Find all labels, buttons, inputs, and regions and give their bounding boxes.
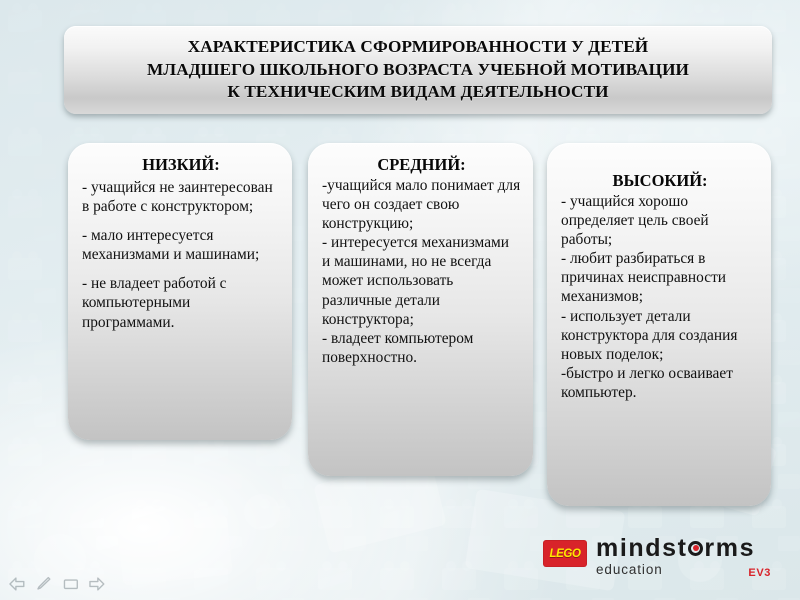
level-card-medium-body: -учащийся мало понимает для чего он созд…	[322, 176, 521, 367]
mindstorms-name-pre: mindst	[596, 534, 688, 562]
level-card-medium: СРЕДНИЙ: -учащийся мало понимает для чег…	[308, 143, 533, 476]
level-card-medium-heading: СРЕДНИЙ:	[322, 155, 521, 175]
target-o-icon: o	[688, 536, 705, 560]
presentation-slide: РОБОТОТЕХНИКА ХАРАКТЕРИСТИКА СФОРМИРОВАН…	[0, 0, 800, 600]
slide-view-icon[interactable]	[62, 576, 80, 592]
back-arrow-icon[interactable]	[8, 576, 26, 592]
level-card-low-item-2: - мало интересуется механизмами и машина…	[82, 226, 280, 264]
page-title-line-2: МЛАДШЕГО ШКОЛЬНОГО ВОЗРАСТА УЧЕБНОЙ МОТИ…	[147, 59, 689, 82]
level-card-medium-item-3: - владеет компьютером поверхностно.	[322, 329, 521, 367]
level-card-low-heading: НИЗКИЙ:	[82, 155, 280, 175]
level-card-low-item-3: - не владеет работой с компьютерными про…	[82, 274, 280, 331]
level-card-low: НИЗКИЙ: - учащийся не заинтересован в ра…	[68, 143, 292, 440]
mindstorms-edition-badge: EV3	[748, 567, 771, 579]
level-card-medium-item-1: -учащийся мало понимает для чего он созд…	[322, 176, 521, 233]
level-card-high-body: - учащийся хорошо определяет цель своей …	[561, 192, 759, 402]
level-card-high-item-1: - учащийся хорошо определяет цель своей …	[561, 192, 759, 249]
forward-arrow-icon[interactable]	[88, 576, 106, 592]
lego-brand-text: LEGO	[550, 548, 581, 560]
slide-title-plaque: ХАРАКТЕРИСТИКА СФОРМИРОВАННОСТИ У ДЕТЕЙ …	[64, 26, 772, 114]
vertical-title-robototehnika: РОБОТОТЕХНИКА	[8, 18, 64, 578]
page-title-line-1: ХАРАКТЕРИСТИКА СФОРМИРОВАННОСТИ У ДЕТЕЙ	[147, 36, 689, 59]
presentation-nav-controls[interactable]	[8, 574, 106, 594]
mindstorms-wordmark: mindstorms education	[596, 536, 755, 577]
level-card-high-item-2: - любит разбираться в причинах неисправн…	[561, 249, 759, 306]
mindstorms-product-name: mindstorms	[596, 536, 755, 560]
level-card-low-item-1: - учащийся не заинтересован в работе с к…	[82, 178, 280, 216]
level-card-high-heading: ВЫСОКИЙ:	[561, 171, 759, 191]
level-card-low-body: - учащийся не заинтересован в работе с к…	[82, 178, 280, 332]
lego-mindstorms-logo: LEGO mindstorms education EV3	[543, 536, 773, 582]
pen-icon[interactable]	[35, 576, 53, 592]
mindstorms-name-post: rms	[704, 534, 755, 562]
mindstorms-subtitle: education	[596, 562, 755, 577]
page-title-line-3: К ТЕХНИЧЕСКИМ ВИДАМ ДЕЯТЕЛЬНОСТИ	[147, 81, 689, 104]
lego-brand-mark: LEGO	[543, 540, 587, 567]
page-title: ХАРАКТЕРИСТИКА СФОРМИРОВАННОСТИ У ДЕТЕЙ …	[133, 36, 703, 104]
level-card-medium-item-2: - интересуется механизмами и машинами, н…	[322, 233, 521, 328]
level-card-high-item-4: -быстро и легко осваивает компьютер.	[561, 364, 759, 402]
level-card-high-item-3: - использует детали конструктора для соз…	[561, 307, 759, 364]
level-card-high: ВЫСОКИЙ: - учащийся хорошо определяет це…	[547, 143, 771, 506]
